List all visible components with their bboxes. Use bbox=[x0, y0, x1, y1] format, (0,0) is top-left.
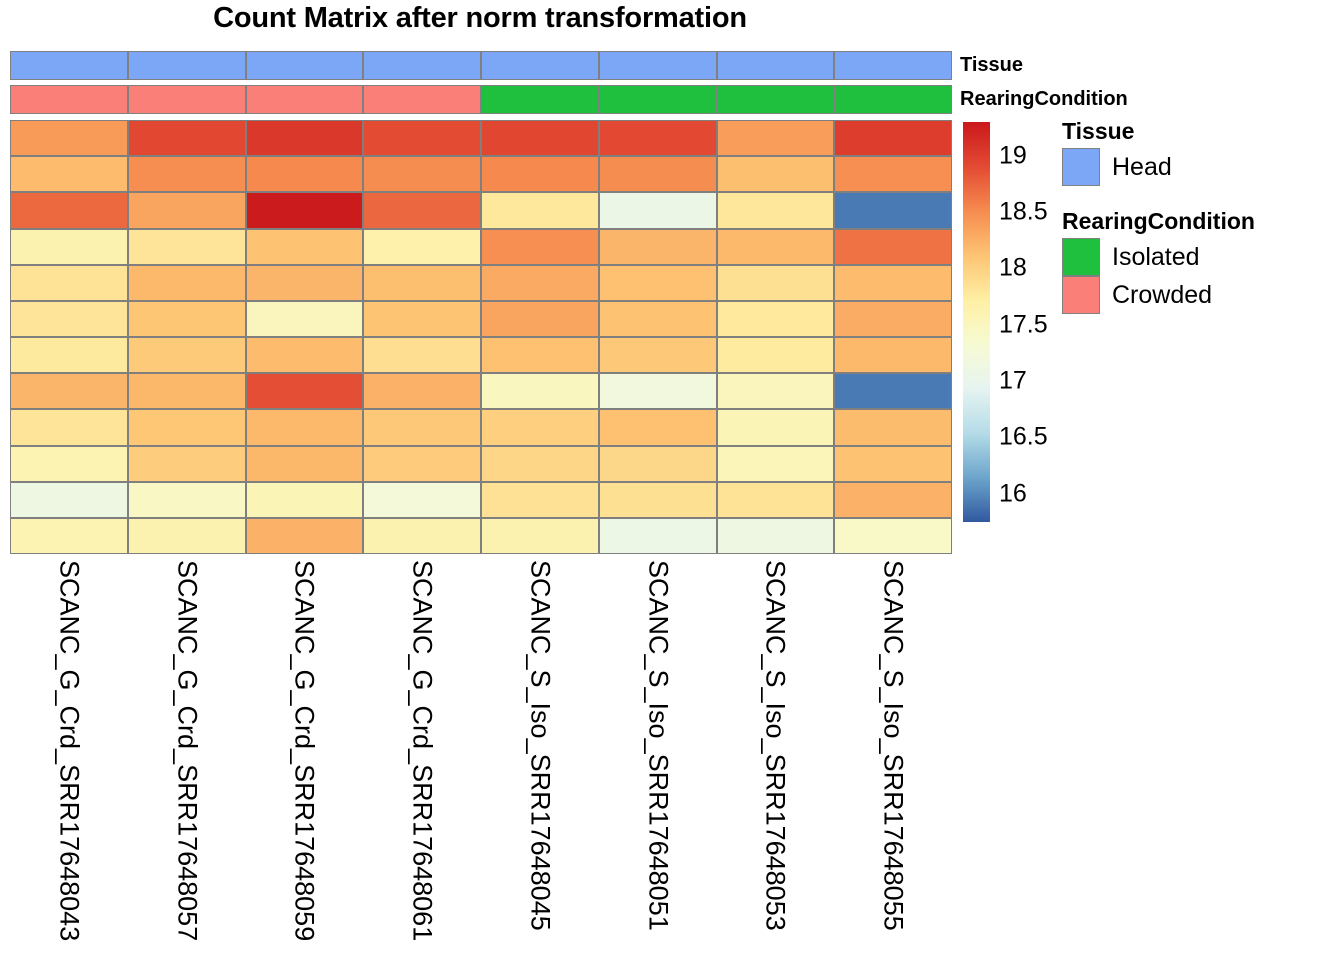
heatmap-cell bbox=[717, 409, 835, 445]
tissue-annotation-cell bbox=[10, 51, 128, 80]
heatmap-cell bbox=[246, 518, 364, 554]
colorbar-tick-label: 16 bbox=[999, 479, 1027, 508]
rearing-annotation-cell bbox=[481, 85, 599, 114]
tissue-annotation-cell bbox=[481, 51, 599, 80]
column-label: SCANC_S_Iso_SRR17648045 bbox=[524, 560, 555, 931]
heatmap-cell bbox=[363, 301, 481, 337]
heatmap-cell bbox=[246, 337, 364, 373]
heatmap-cell bbox=[481, 337, 599, 373]
heatmap-cell bbox=[717, 120, 835, 156]
heatmap-cell bbox=[10, 192, 128, 228]
heatmap-cell bbox=[599, 301, 717, 337]
heatmap-cell bbox=[128, 265, 246, 301]
tissue-annotation-label: Tissue bbox=[960, 54, 1023, 77]
heatmap-cell bbox=[363, 120, 481, 156]
column-label-slot: SCANC_S_Iso_SRR17648051 bbox=[599, 556, 717, 956]
legend-tissue-title: Tissue bbox=[1062, 118, 1172, 145]
heatmap-cell bbox=[128, 301, 246, 337]
heatmap-cell bbox=[481, 301, 599, 337]
heatmap-cell bbox=[246, 373, 364, 409]
heatmap-cell bbox=[834, 482, 952, 518]
heatmap-cell bbox=[363, 482, 481, 518]
heatmap-cell bbox=[599, 373, 717, 409]
heatmap-cell bbox=[10, 518, 128, 554]
heatmap-cell bbox=[717, 192, 835, 228]
rearing-annotation-cell bbox=[246, 85, 364, 114]
heatmap-cell bbox=[481, 156, 599, 192]
heatmap-cell bbox=[128, 192, 246, 228]
heatmap-cell bbox=[128, 482, 246, 518]
rearing-annotation-cell bbox=[834, 85, 952, 114]
heatmap-cell bbox=[717, 373, 835, 409]
heatmap-cell bbox=[717, 229, 835, 265]
heatmap-cell bbox=[246, 229, 364, 265]
heatmap-cell bbox=[10, 337, 128, 373]
heatmap-cell bbox=[599, 156, 717, 192]
heatmap-cell bbox=[481, 265, 599, 301]
heatmap-cell bbox=[599, 265, 717, 301]
heatmap-cell bbox=[363, 192, 481, 228]
rearing-annotation-cell bbox=[717, 85, 835, 114]
heatmap-cell bbox=[246, 409, 364, 445]
heatmap-cell bbox=[717, 482, 835, 518]
heatmap-cell bbox=[717, 337, 835, 373]
heatmap-cell bbox=[363, 265, 481, 301]
heatmap-cell bbox=[599, 192, 717, 228]
heatmap-cell bbox=[363, 373, 481, 409]
rearing-annotation-cell bbox=[128, 85, 246, 114]
heatmap-cell bbox=[599, 482, 717, 518]
heatmap-cell bbox=[128, 156, 246, 192]
heatmap-cell bbox=[599, 229, 717, 265]
heatmap-cell bbox=[834, 156, 952, 192]
legend-swatch-icon bbox=[1062, 148, 1100, 186]
heatmap-matrix bbox=[10, 120, 952, 554]
legend-rearing-item[interactable]: Isolated bbox=[1062, 238, 1255, 276]
heatmap-cell bbox=[834, 518, 952, 554]
heatmap-cell bbox=[246, 265, 364, 301]
colorbar-tick-label: 19 bbox=[999, 141, 1027, 170]
heatmap-cell bbox=[363, 229, 481, 265]
heatmap-cell bbox=[834, 229, 952, 265]
heatmap-cell bbox=[128, 337, 246, 373]
column-label: SCANC_S_Iso_SRR17648051 bbox=[642, 560, 673, 931]
legend-tissue: TissueHead bbox=[1062, 118, 1172, 186]
heatmap-cell bbox=[246, 301, 364, 337]
heatmap-cell bbox=[481, 192, 599, 228]
heatmap-cell bbox=[10, 301, 128, 337]
heatmap-cell bbox=[717, 156, 835, 192]
legend-swatch-icon bbox=[1062, 238, 1100, 276]
tissue-annotation-cell bbox=[717, 51, 835, 80]
rearing-annotation-row bbox=[10, 85, 952, 114]
column-label: SCANC_S_Iso_SRR17648055 bbox=[878, 560, 909, 931]
legend-tissue-item[interactable]: Head bbox=[1062, 148, 1172, 186]
heatmap-cell bbox=[834, 192, 952, 228]
legend-rearing-item[interactable]: Crowded bbox=[1062, 276, 1255, 314]
tissue-annotation-cell bbox=[599, 51, 717, 80]
colorbar-tick-label: 17 bbox=[999, 367, 1027, 396]
heatmap-cell bbox=[128, 229, 246, 265]
heatmap-cell bbox=[481, 120, 599, 156]
colorbar-gradient bbox=[963, 122, 990, 522]
heatmap-cell bbox=[363, 518, 481, 554]
heatmap-cell bbox=[363, 156, 481, 192]
heatmap-cell bbox=[10, 409, 128, 445]
heatmap-cell bbox=[246, 482, 364, 518]
heatmap-cell bbox=[834, 265, 952, 301]
tissue-annotation-row bbox=[10, 51, 952, 80]
heatmap-cell bbox=[599, 337, 717, 373]
heatmap-cell bbox=[834, 373, 952, 409]
heatmap-cell bbox=[246, 156, 364, 192]
heatmap-cell bbox=[246, 120, 364, 156]
heatmap-cell bbox=[481, 409, 599, 445]
heatmap-cell bbox=[481, 518, 599, 554]
legend-rearing-label: Isolated bbox=[1112, 243, 1200, 272]
heatmap-cell bbox=[599, 120, 717, 156]
column-label-slot: SCANC_S_Iso_SRR17648045 bbox=[481, 556, 599, 956]
colorbar-tick-label: 17.5 bbox=[999, 310, 1048, 339]
column-labels: SCANC_G_Crd_SRR17648043SCANC_G_Crd_SRR17… bbox=[10, 556, 952, 956]
heatmap-cell bbox=[10, 373, 128, 409]
heatmap-cell bbox=[717, 518, 835, 554]
heatmap-cell bbox=[128, 373, 246, 409]
heatmap-cell bbox=[834, 301, 952, 337]
column-label: SCANC_S_Iso_SRR17648053 bbox=[760, 560, 791, 931]
legend-rearing-label: Crowded bbox=[1112, 281, 1212, 310]
heatmap-cell bbox=[599, 409, 717, 445]
heatmap-cell bbox=[10, 446, 128, 482]
colorbar-tick-label: 18.5 bbox=[999, 198, 1048, 227]
heatmap-cell bbox=[246, 446, 364, 482]
column-label-slot: SCANC_G_Crd_SRR17648043 bbox=[10, 556, 128, 956]
heatmap-cell bbox=[481, 229, 599, 265]
heatmap-cell bbox=[10, 265, 128, 301]
heatmap-cell bbox=[834, 337, 952, 373]
rearing-annotation-cell bbox=[599, 85, 717, 114]
heatmap-cell bbox=[599, 518, 717, 554]
tissue-annotation-cell bbox=[363, 51, 481, 80]
heatmap-cell bbox=[363, 446, 481, 482]
column-label: SCANC_G_Crd_SRR17648061 bbox=[407, 560, 438, 941]
column-label: SCANC_G_Crd_SRR17648057 bbox=[171, 560, 202, 941]
heatmap-cell bbox=[717, 446, 835, 482]
colorbar-tick-label: 16.5 bbox=[999, 423, 1048, 452]
legend-swatch-icon bbox=[1062, 276, 1100, 314]
heatmap-cell bbox=[481, 482, 599, 518]
rearing-annotation-cell bbox=[363, 85, 481, 114]
legend-tissue-label: Head bbox=[1112, 153, 1172, 182]
heatmap-cell bbox=[717, 301, 835, 337]
tissue-annotation-cell bbox=[834, 51, 952, 80]
heatmap-cell bbox=[599, 446, 717, 482]
legend-rearing-title: RearingCondition bbox=[1062, 208, 1255, 235]
heatmap-cell bbox=[128, 446, 246, 482]
heatmap-cell bbox=[10, 120, 128, 156]
heatmap-cell bbox=[481, 446, 599, 482]
heatmap-cell bbox=[128, 409, 246, 445]
heatmap-cell bbox=[246, 192, 364, 228]
heatmap-cell bbox=[834, 446, 952, 482]
column-label-slot: SCANC_G_Crd_SRR17648057 bbox=[128, 556, 246, 956]
heatmap-cell bbox=[834, 120, 952, 156]
column-label: SCANC_G_Crd_SRR17648043 bbox=[53, 560, 84, 941]
legend-rearing: RearingConditionIsolatedCrowded bbox=[1062, 208, 1255, 314]
heatmap-cell bbox=[363, 409, 481, 445]
heatmap-cell bbox=[481, 373, 599, 409]
column-label-slot: SCANC_S_Iso_SRR17648055 bbox=[834, 556, 952, 956]
heatmap-cell bbox=[834, 409, 952, 445]
rearing-annotation-cell bbox=[10, 85, 128, 114]
heatmap-cell bbox=[363, 337, 481, 373]
page-title: Count Matrix after norm transformation bbox=[0, 2, 960, 35]
rearing-annotation-label: RearingCondition bbox=[960, 88, 1128, 111]
heatmap-cell bbox=[10, 156, 128, 192]
tissue-annotation-cell bbox=[246, 51, 364, 80]
column-label: SCANC_G_Crd_SRR17648059 bbox=[289, 560, 320, 941]
heatmap-cell bbox=[10, 482, 128, 518]
column-label-slot: SCANC_G_Crd_SRR17648059 bbox=[246, 556, 364, 956]
heatmap-cell bbox=[717, 265, 835, 301]
heatmap-cell bbox=[10, 229, 128, 265]
heatmap-cell bbox=[128, 518, 246, 554]
tissue-annotation-cell bbox=[128, 51, 246, 80]
heatmap-cell bbox=[128, 120, 246, 156]
column-label-slot: SCANC_G_Crd_SRR17648061 bbox=[363, 556, 481, 956]
colorbar-tick-label: 18 bbox=[999, 254, 1027, 283]
column-label-slot: SCANC_S_Iso_SRR17648053 bbox=[717, 556, 835, 956]
